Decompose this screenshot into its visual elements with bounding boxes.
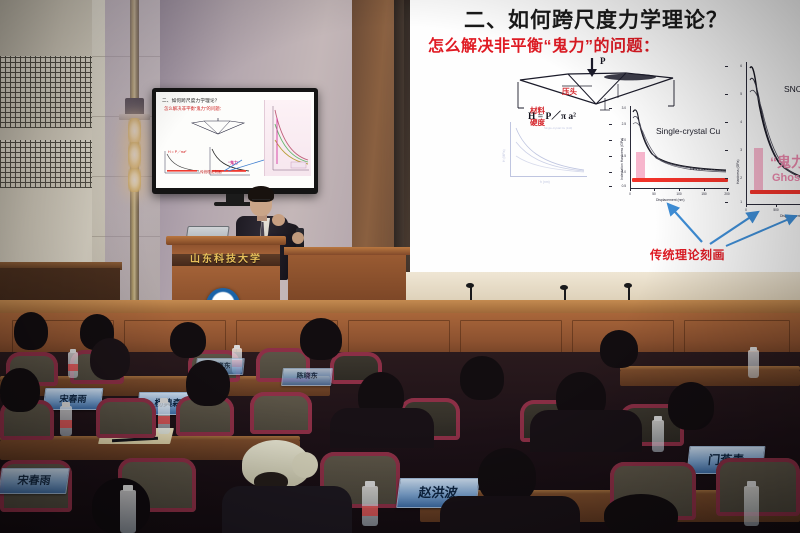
lecture-hall-photo: 二、如何跨尺度力学理论？ 怎么解决非平衡“鬼力”的问题： H = P／πa² “… — [0, 0, 800, 533]
water-bottle — [748, 350, 759, 378]
bottle-cap — [62, 402, 70, 407]
audience-head — [90, 338, 130, 380]
audience-head — [300, 318, 342, 360]
audience-head — [600, 330, 638, 368]
acoustic-panel-upper — [0, 56, 92, 128]
monitor-arrows — [198, 154, 268, 174]
stage-microphone-head — [560, 285, 568, 290]
podium-top-surface — [166, 236, 286, 245]
ghost-force-en-label: Ghost — [772, 172, 800, 184]
bottle-label — [362, 506, 378, 516]
diagram-indenter-label: 压头 — [562, 86, 577, 97]
stage-backwall-strip — [404, 272, 800, 302]
snc-ylabel: Hardness (GPa) — [736, 160, 740, 185]
bottle-cap — [234, 345, 240, 349]
audience-head — [170, 322, 206, 358]
audience-head — [668, 382, 714, 430]
slide-title: 二、如何跨尺度力学理论？ — [464, 4, 728, 34]
monitor-slide-title: 二、如何跨尺度力学理论？ — [162, 98, 220, 104]
monitor-slide-subtitle: 怎么解决非平衡“鬼力”的问题： — [164, 106, 224, 112]
bottle-label — [60, 420, 72, 428]
bottle-cap — [365, 481, 375, 487]
water-bottle — [652, 420, 664, 452]
stage-panel — [460, 320, 562, 354]
water-bottle — [744, 486, 759, 526]
audience-head — [604, 494, 678, 533]
name-plate-text: 宋春雨 — [44, 389, 102, 409]
stage-front-edge — [0, 300, 800, 314]
stage-panel — [348, 320, 450, 354]
stage-panel — [684, 320, 790, 354]
diagram-load-label: P — [600, 56, 606, 66]
bottle-cap — [70, 349, 76, 353]
bottle-cap — [747, 481, 756, 487]
name-plate-text: 陈晓东 — [282, 369, 332, 385]
confidence-monitor-screen: 二、如何跨尺度力学理论？ 怎么解决非平衡“鬼力”的问题： H = P／πa² “… — [156, 92, 314, 188]
slide-subtitle: 怎么解决非平衡“鬼力”的问题： — [428, 32, 660, 56]
water-bottle — [120, 490, 136, 533]
seat — [96, 398, 156, 438]
bottle-cap — [654, 416, 662, 421]
audience-head — [14, 312, 48, 350]
audience-head — [0, 368, 40, 412]
audience-shoulders — [222, 486, 352, 533]
speaker-glasses — [252, 199, 270, 204]
podium-university-name: 山东科技大学 — [178, 250, 274, 265]
name-plate: 宋春雨 — [0, 468, 70, 494]
bottle-cap — [123, 485, 133, 491]
seat — [250, 392, 312, 434]
acoustic-panel-lower — [0, 140, 92, 188]
speaker-raised-hand — [272, 214, 285, 226]
monitor-indent-diagram — [190, 118, 246, 140]
stage-microphone-head — [624, 283, 632, 288]
audience-shoulders — [330, 408, 434, 448]
cu-ylabel: Indentation Hardness (GPa) — [620, 138, 624, 180]
name-plate-text: 宋春雨 — [0, 469, 69, 493]
audience-head — [460, 356, 504, 400]
bottle-cap — [750, 347, 757, 351]
chart-left-faint: h (nm) H (MPa) Single-crystal Cu (110) — [498, 118, 590, 188]
cu-chart-title: Single-crystal Cu — [656, 126, 720, 136]
monitor-chart-c — [265, 100, 311, 176]
traditional-theory-annotation: 传统理论刻画 — [650, 246, 725, 263]
audience-head — [186, 360, 230, 406]
speaker-lower-hand — [292, 232, 304, 244]
name-plate: 陈晓东 — [281, 368, 333, 386]
projection-screen: 二、如何跨尺度力学理论？ 怎么解决非平衡“鬼力”的问题： P 压头 材料 硬度 … — [410, 0, 800, 272]
secondary-podium-top — [284, 247, 410, 255]
stage-microphone-head — [466, 283, 474, 288]
bottle-cap — [160, 398, 168, 403]
bottle-label — [68, 364, 78, 371]
cap-brim — [292, 452, 318, 478]
audience-shoulders — [440, 496, 580, 533]
snc-chart-title: SNC Ni — [784, 84, 800, 94]
audience-shoulders — [530, 410, 642, 452]
desk-row-far-right-body — [620, 370, 800, 386]
bottle-label — [158, 416, 170, 424]
ghost-force-label: “鬼力” — [770, 152, 800, 172]
monitor-right-panel — [264, 100, 311, 176]
monitor-chart-a — [162, 148, 202, 176]
